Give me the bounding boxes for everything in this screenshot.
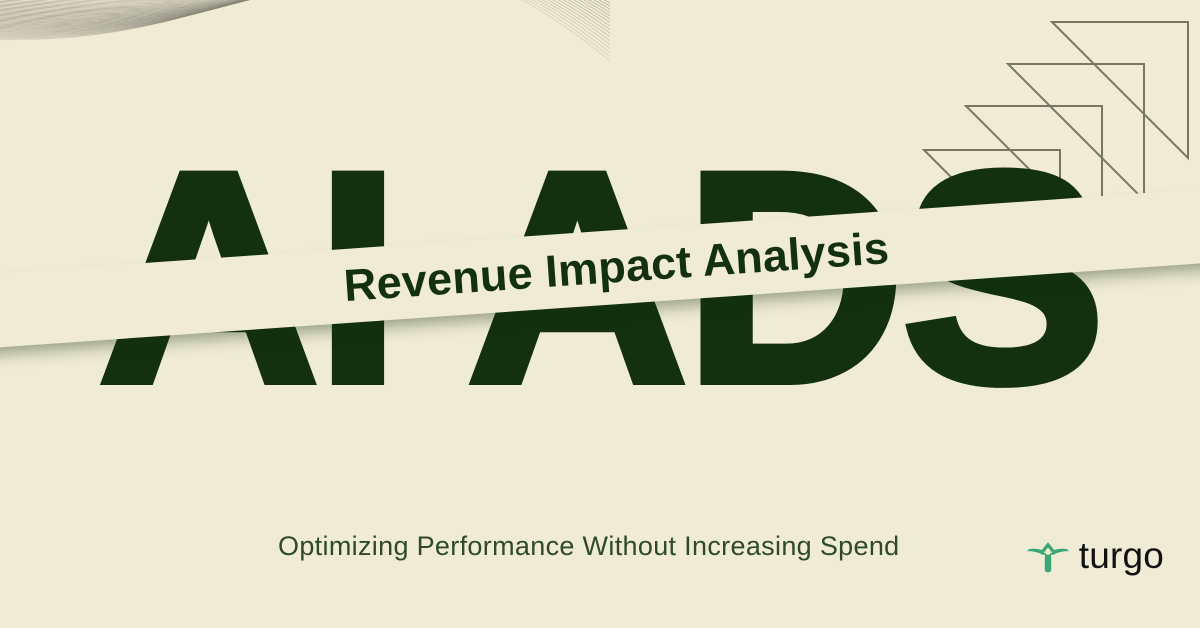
wave-line <box>0 0 610 26</box>
wave-line <box>0 0 610 31</box>
subtitle-text: Optimizing Performance Without Increasin… <box>278 531 900 562</box>
wave-line <box>0 0 610 13</box>
wave-line <box>0 0 610 37</box>
wave-line <box>0 0 610 22</box>
wave-line <box>0 0 610 18</box>
wave-line <box>0 0 610 19</box>
wave-line <box>0 0 610 29</box>
wave-line <box>0 0 610 16</box>
wave-line <box>0 0 610 5</box>
wave-line <box>0 0 610 4</box>
banner-ribbon: Revenue Impact Analysis <box>0 187 1200 350</box>
wave-line <box>0 0 610 15</box>
turgo-bird-mark-icon <box>1027 539 1069 573</box>
wave-line <box>0 0 610 52</box>
wave-line <box>0 0 610 11</box>
headline-row-bottom-clip: AI ADS <box>0 320 1200 500</box>
wave-mesh-lines <box>0 0 610 190</box>
wave-line <box>0 0 610 2</box>
wave-line <box>0 0 610 20</box>
wave-line <box>0 0 610 45</box>
wave-line <box>0 0 610 6</box>
wave-line <box>0 0 610 9</box>
triangle-outline-1 <box>1052 22 1188 158</box>
wave-line <box>0 0 610 33</box>
wave-line <box>0 0 610 24</box>
wave-line <box>0 0 610 30</box>
turgo-wordmark: turgo <box>1079 537 1164 574</box>
wave-line <box>0 0 610 61</box>
wave-line <box>0 0 610 10</box>
wave-line <box>0 0 610 57</box>
headline-text-bottom: AI ADS <box>98 320 1102 406</box>
banner-text: Revenue Impact Analysis <box>342 222 891 312</box>
wave-line <box>0 0 610 41</box>
wave-line <box>0 0 610 21</box>
wave-line <box>0 0 610 12</box>
wave-line <box>0 0 610 14</box>
triangle-outline-2 <box>1008 64 1144 200</box>
wave-line <box>0 0 610 17</box>
wave-line <box>0 0 610 32</box>
wave-line <box>0 0 610 1</box>
wave-line <box>0 0 610 28</box>
wave-line <box>0 0 610 8</box>
wave-line <box>0 0 610 49</box>
wave-line <box>0 0 610 3</box>
wave-line <box>0 0 610 25</box>
poster-canvas: AI ADS AI ADS Revenue Impact Analysis Op… <box>0 0 1200 628</box>
brand-logo: turgo <box>1027 537 1164 574</box>
wave-line <box>0 0 610 28</box>
wave-line <box>0 0 610 27</box>
